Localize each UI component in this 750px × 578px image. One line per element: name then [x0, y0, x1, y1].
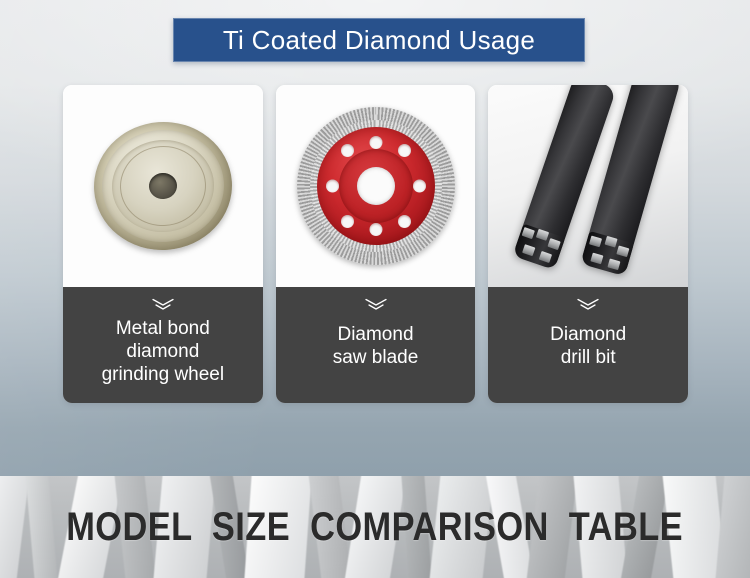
- card-label: Metal bond diamond grinding wheel: [96, 317, 231, 386]
- diamond-segment: [522, 227, 535, 239]
- blade-arbor-hole: [357, 167, 395, 205]
- grinding-wheel-illustration: [90, 117, 237, 254]
- saw-blade-illustration: [297, 107, 455, 265]
- blade-cooling-hole: [369, 136, 382, 149]
- diamond-segment: [589, 236, 602, 248]
- double-chevron-down-icon: [575, 298, 601, 311]
- double-chevron-down-icon: [150, 298, 176, 311]
- bottom-heading-banner: MODEL SIZE COMPARISON TABLE: [0, 476, 750, 578]
- product-banner-page: Ti Coated Diamond Usage Metal bo: [0, 0, 750, 578]
- bottom-heading-text: MODEL SIZE COMPARISON TABLE: [67, 505, 684, 550]
- double-chevron-down-icon: [363, 298, 389, 311]
- diamond-drill-bit-photo: [488, 85, 688, 287]
- diamond-segment: [548, 238, 561, 250]
- diamond-segment: [617, 245, 630, 257]
- diamond-segment: [605, 236, 618, 248]
- diamond-segment: [536, 229, 549, 241]
- blade-cooling-hole: [341, 215, 354, 228]
- blade-cooling-hole: [398, 144, 411, 157]
- title-banner: Ti Coated Diamond Usage: [173, 18, 585, 62]
- metal-bond-diamond-grinding-wheel-photo: [63, 85, 263, 287]
- title-banner-inner-border: Ti Coated Diamond Usage: [173, 18, 585, 62]
- card-footer: Diamond drill bit: [488, 287, 688, 403]
- product-card-diamond-drill-bit[interactable]: Diamond drill bit: [488, 85, 688, 403]
- blade-cooling-hole: [413, 180, 426, 193]
- diamond-saw-blade-photo: [276, 85, 476, 287]
- diamond-segment: [539, 251, 552, 263]
- card-label: Diamond saw blade: [327, 323, 425, 369]
- blade-cooling-hole: [398, 215, 411, 228]
- blade-cooling-hole: [326, 180, 339, 193]
- product-card-diamond-saw-blade[interactable]: Diamond saw blade: [276, 85, 476, 403]
- diamond-segment: [522, 244, 535, 256]
- blade-cooling-hole: [369, 223, 382, 236]
- card-footer: Metal bond diamond grinding wheel: [63, 287, 263, 403]
- page-title: Ti Coated Diamond Usage: [223, 25, 535, 56]
- blade-cooling-hole: [341, 144, 354, 157]
- card-footer: Diamond saw blade: [276, 287, 476, 403]
- product-card-row: Metal bond diamond grinding wheel: [63, 85, 688, 403]
- product-card-metal-bond-grinding-wheel[interactable]: Metal bond diamond grinding wheel: [63, 85, 263, 403]
- card-label: Diamond drill bit: [544, 323, 632, 369]
- diamond-segment: [608, 259, 621, 271]
- diamond-segment: [591, 253, 604, 265]
